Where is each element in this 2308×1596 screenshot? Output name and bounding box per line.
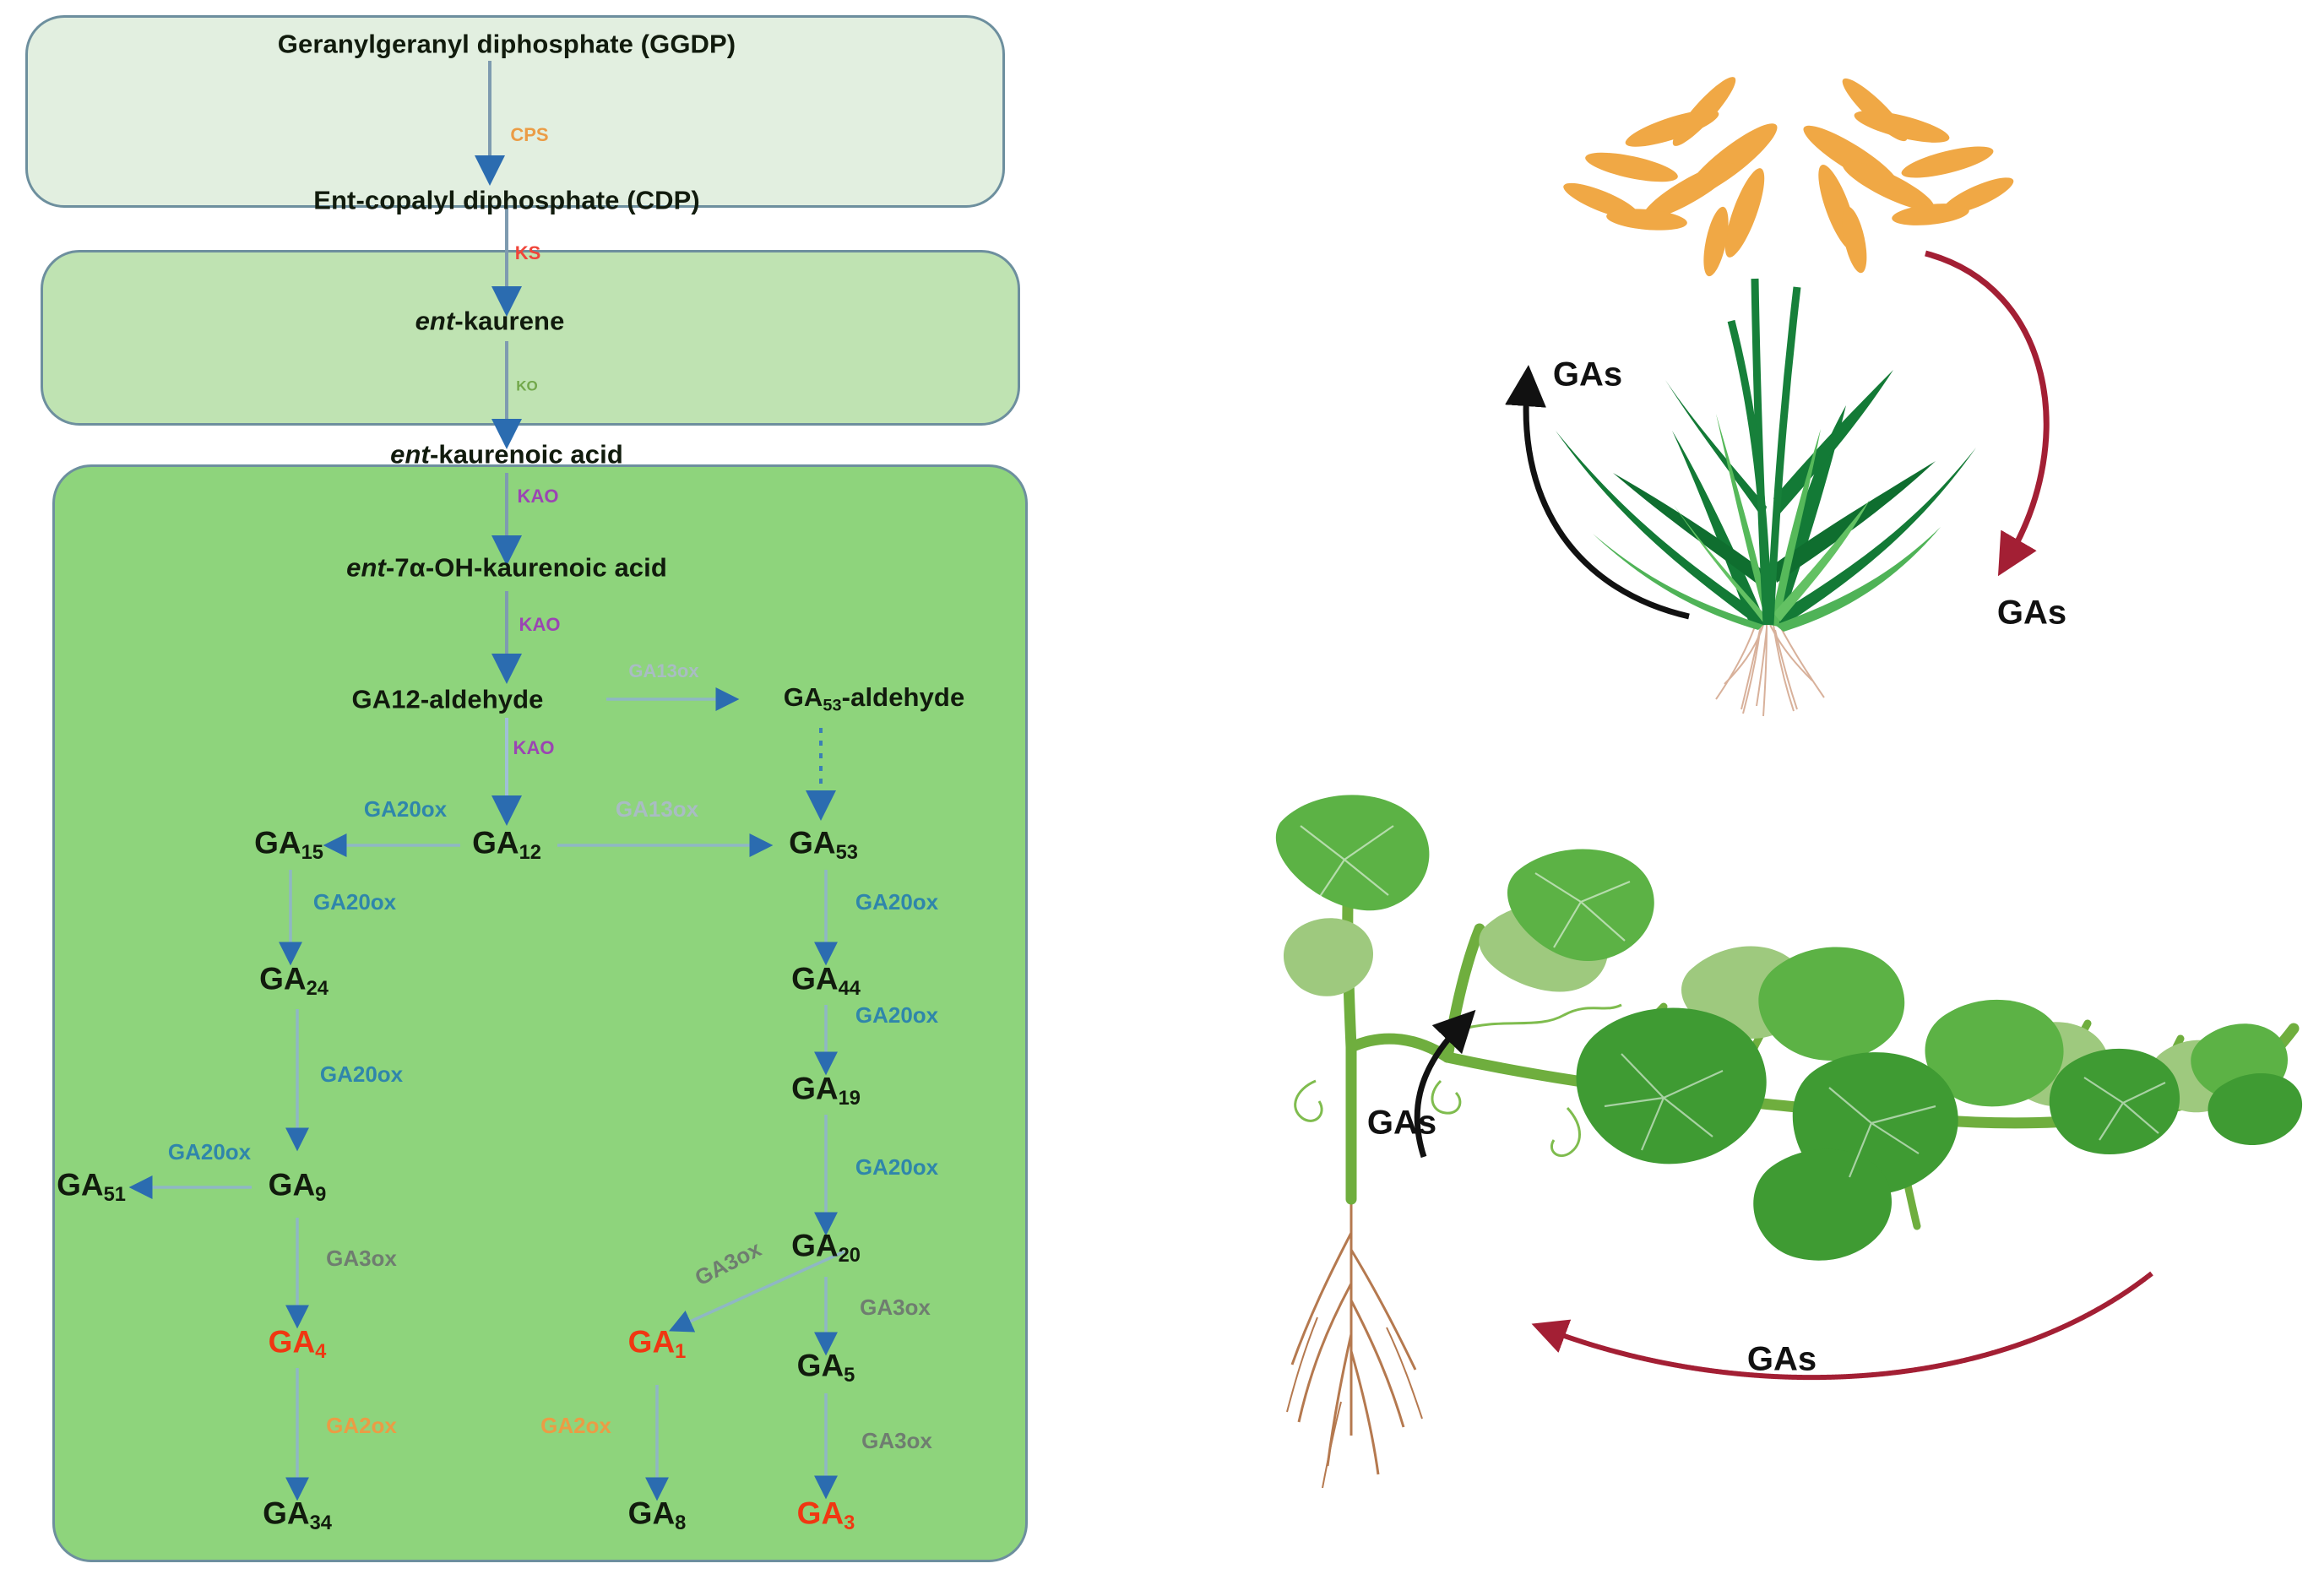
compound-ent-kaurenoic-acid: ent-kaurenoic acid: [390, 442, 623, 468]
vine-gas-return-label: GAs: [1747, 1341, 1817, 1379]
enzyme-kao-3: KAO: [513, 739, 555, 757]
compound-ga8-sub: 8: [675, 1512, 686, 1534]
compound-ga53-aldehyde-rest: -aldehyde: [842, 682, 965, 712]
rice-gas-down-label: GAs: [1997, 594, 2066, 632]
compound-ga9-sub: 9: [315, 1184, 326, 1206]
compound-ga53-sub: 53: [836, 842, 858, 864]
compound-ga20: GA20: [791, 1230, 861, 1266]
vine-gas-up-label: GAs: [1367, 1105, 1436, 1143]
compound-ga12-sub: 12: [519, 842, 541, 864]
compound-ga15: GA15: [254, 827, 323, 863]
compound-ent-kaurenoic-acid-rest: -kaurenoic acid: [430, 440, 623, 470]
compound-ga4: GA4: [269, 1326, 327, 1362]
compound-ga4-sub: 4: [315, 1341, 326, 1363]
enzyme-ga20ox-24-to-9: GA20ox: [320, 1063, 403, 1085]
compound-ent-7a-oh-kaurenoic-acid-italic: ent: [346, 553, 386, 583]
enzyme-ga13ox-12-to-53: GA13ox: [616, 798, 698, 820]
compound-ga53: GA53: [789, 827, 858, 863]
enzyme-ga20ox-9-to-51: GA20ox: [168, 1141, 251, 1163]
compound-ga19-sub: 19: [839, 1088, 861, 1110]
compound-ga15-base: GA: [254, 825, 301, 860]
compound-ga51-base: GA: [57, 1167, 104, 1202]
compound-ga3: GA3: [797, 1497, 855, 1534]
compound-ga34: GA34: [263, 1497, 332, 1534]
compound-ga34-base: GA: [263, 1496, 310, 1530]
compound-ga44-base: GA: [791, 961, 839, 996]
compound-ga3-sub: 3: [844, 1512, 855, 1534]
enzyme-ga20ox-15-to-24: GA20ox: [313, 891, 396, 913]
enzyme-ga13ox-aldehyde: GA13ox: [628, 662, 698, 681]
compound-ga53-aldehyde-sub: 53: [823, 696, 841, 714]
enzyme-ga2ox-4-to-34: GA2ox: [326, 1414, 397, 1436]
compound-ggdp: Geranylgeranyl diphosphate (GGDP): [278, 31, 736, 57]
enzyme-ga3ox-20-to-5: GA3ox: [860, 1296, 931, 1318]
compound-ga34-sub: 34: [310, 1512, 332, 1534]
compound-ga24: GA24: [259, 963, 329, 999]
enzyme-kao-1: KAO: [518, 487, 559, 506]
compound-ent-kaurene: ent-kaurene: [415, 308, 565, 334]
compound-ga4-base: GA: [269, 1324, 316, 1359]
enzyme-ga20ox-19-to-20: GA20ox: [855, 1156, 938, 1178]
compound-ga1-base: GA: [628, 1324, 676, 1359]
rice-panicles: [1560, 71, 2017, 279]
enzyme-kao-2: KAO: [519, 616, 561, 634]
enzyme-ga3ox-5-to-3: GA3ox: [861, 1430, 932, 1452]
enzyme-ga20ox-44-to-19: GA20ox: [855, 1004, 938, 1026]
compound-ga51: GA51: [57, 1169, 126, 1205]
compound-ga24-base: GA: [259, 961, 307, 996]
compound-ent-kaurenoic-acid-italic: ent: [390, 440, 430, 470]
compound-ga5: GA5: [797, 1349, 855, 1386]
compound-ga1: GA1: [628, 1326, 687, 1362]
compound-ga19: GA19: [791, 1072, 861, 1109]
compound-ga8: GA8: [628, 1497, 687, 1534]
compound-ga9: GA9: [269, 1169, 327, 1205]
vine-roots: [1287, 1199, 1422, 1488]
compound-cdp: Ent-copalyl diphosphate (CDP): [313, 187, 700, 214]
rice-gas-up-arrow: [1526, 388, 1689, 616]
compound-ga9-base: GA: [269, 1167, 316, 1202]
compound-ga5-base: GA: [797, 1348, 844, 1382]
pathway-box-stage2: [41, 250, 1020, 426]
compound-ga19-base: GA: [791, 1071, 839, 1105]
compound-ent-7a-oh-kaurenoic-acid: ent-7α-OH-kaurenoic acid: [346, 555, 667, 581]
rice-plant-illustration: GAs GAs: [1334, 34, 2280, 726]
enzyme-ga20ox-53-to-44: GA20ox: [855, 891, 938, 913]
compound-ga24-sub: 24: [307, 978, 329, 1000]
compound-ga44: GA44: [791, 963, 861, 999]
enzyme-ks: KS: [515, 244, 541, 263]
rice-roots: [1716, 625, 1824, 716]
compound-ga53-aldehyde-base: GA: [784, 682, 823, 712]
compound-ga12-aldehyde: GA12-aldehyde: [352, 687, 544, 713]
vine-plant-illustration: GAs GAs: [1267, 760, 2305, 1588]
enzyme-cps: CPS: [510, 126, 548, 144]
compound-ga3-base: GA: [797, 1496, 844, 1530]
enzyme-ga3ox-9-to-4: GA3ox: [326, 1247, 397, 1269]
compound-ga1-sub: 1: [675, 1341, 686, 1363]
compound-ent-kaurene-italic: ent: [415, 307, 455, 336]
enzyme-ga2ox-1-to-8: GA2ox: [540, 1414, 611, 1436]
compound-ga15-sub: 15: [301, 842, 323, 864]
figure-canvas: Geranylgeranyl diphosphate (GGDP) CPS En…: [0, 0, 2308, 1596]
compound-ga44-sub: 44: [839, 978, 861, 1000]
compound-ga20-base: GA: [791, 1228, 839, 1262]
compound-ga53-base: GA: [789, 825, 836, 860]
compound-ga8-base: GA: [628, 1496, 676, 1530]
compound-ga12: GA12: [472, 827, 541, 863]
compound-ga51-sub: 51: [104, 1184, 126, 1206]
compound-ent-kaurene-rest: -kaurene: [454, 307, 564, 336]
compound-ga5-sub: 5: [844, 1365, 855, 1387]
compound-ga53-aldehyde: GA53-aldehyde: [784, 684, 965, 714]
enzyme-ga20ox-12-to-15: GA20ox: [364, 798, 447, 820]
compound-ent-7a-oh-kaurenoic-acid-rest: -7α-OH-kaurenoic acid: [386, 553, 667, 583]
compound-ga20-sub: 20: [839, 1245, 861, 1267]
rice-gas-down-arrow: [1925, 253, 2046, 556]
enzyme-ko: KO: [516, 379, 538, 394]
vine-gas-return-arrow: [1550, 1273, 2152, 1377]
compound-ga12-base: GA: [472, 825, 519, 860]
rice-gas-up-label: GAs: [1553, 356, 1622, 394]
